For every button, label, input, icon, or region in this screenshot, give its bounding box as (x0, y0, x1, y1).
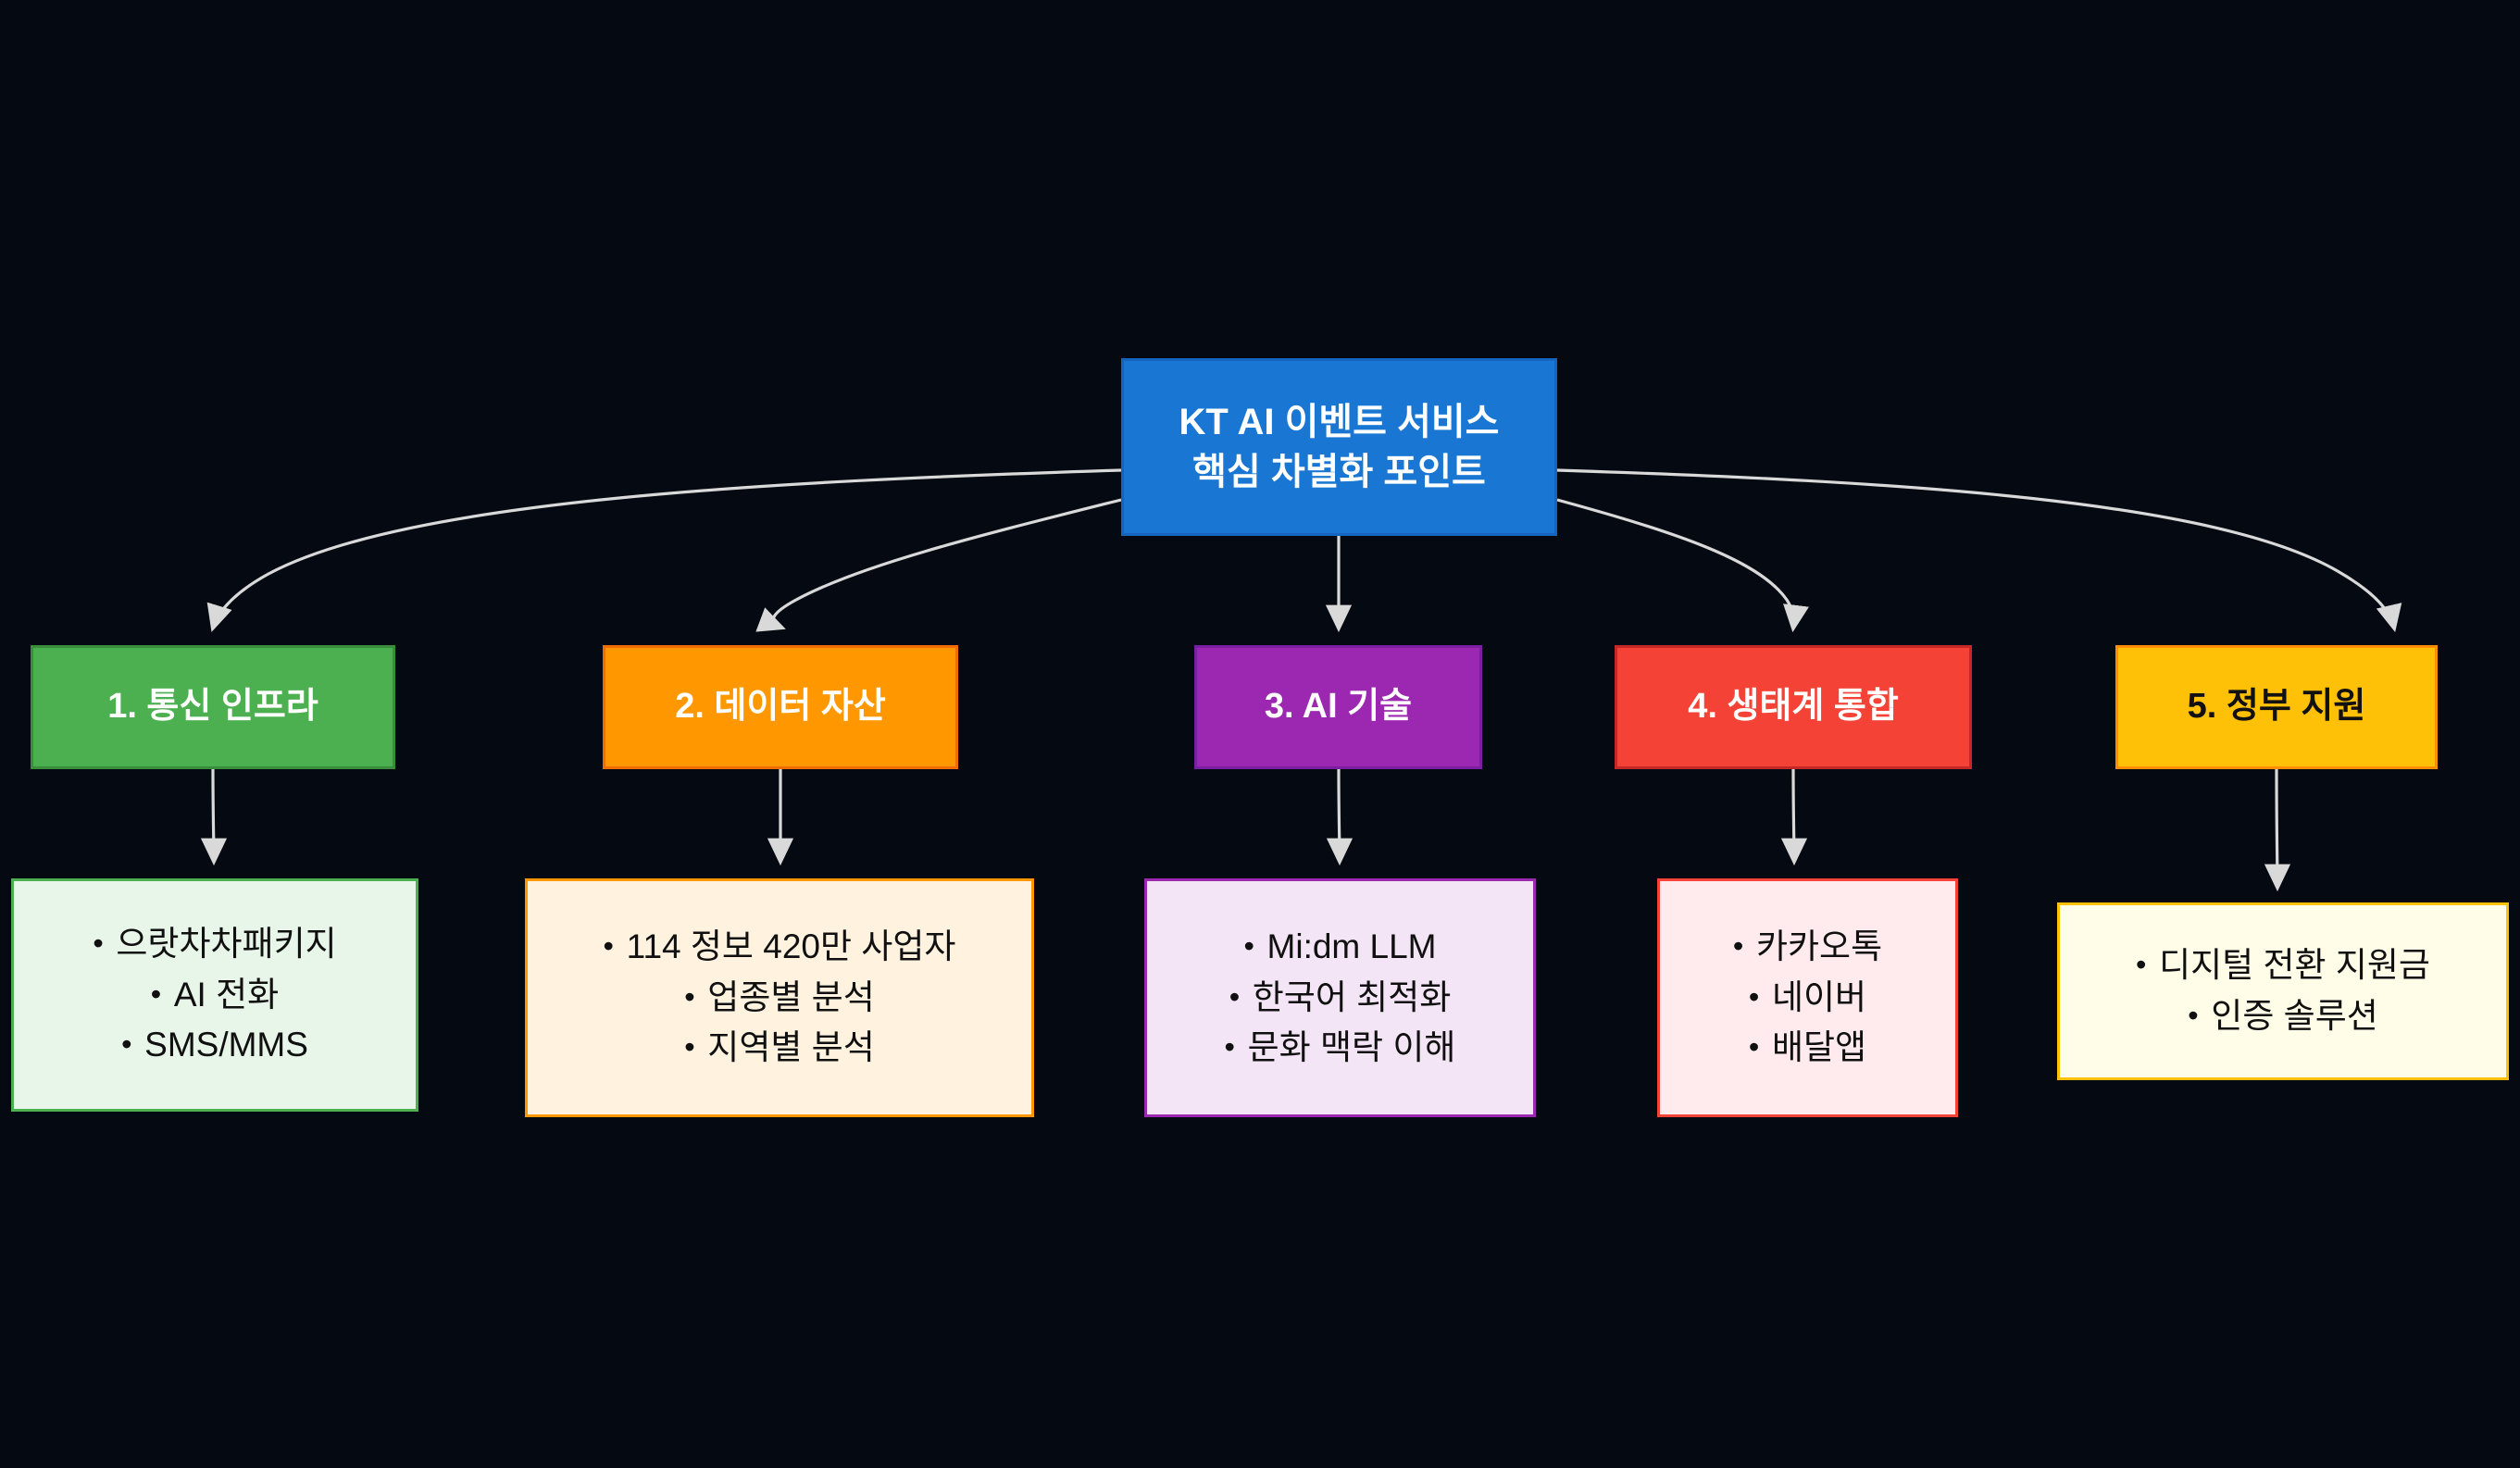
category-node-4[interactable]: 4. 생태계 통합 (1615, 645, 1972, 769)
edge-root-to-cat-5 (1557, 470, 2394, 628)
leaf-list-item: 카카오톡 (1733, 922, 1882, 973)
category-node-2[interactable]: 2. 데이터 자산 (603, 645, 958, 769)
leaf-list-item: 한국어 최적화 (1225, 973, 1456, 1024)
category-node-3[interactable]: 3. AI 기술 (1194, 645, 1482, 769)
leaf-node-1[interactable]: 으랏차차패키지AI 전화SMS/MMS (11, 878, 418, 1112)
leaf-node-2[interactable]: 114 정보 420만 사업자업종별 분석지역별 분석 (525, 878, 1034, 1117)
edge-root-to-cat-2 (773, 500, 1121, 628)
edge-root-to-cat-4 (1557, 500, 1793, 628)
category-node-4-label: 4. 생태계 통합 (1617, 683, 1969, 730)
category-node-1-label: 1. 통신 인프라 (33, 683, 393, 730)
edge-cat-3-to-leaf-3 (1339, 769, 1340, 861)
leaf-node-3-list: Mi:dm LLM한국어 최적화문화 맥락 이해 (1225, 922, 1456, 1074)
leaf-node-5[interactable]: 디지털 전환 지원금인증 솔루션 (2057, 902, 2509, 1080)
leaf-list-item: AI 전화 (93, 970, 336, 1021)
leaf-node-1-list: 으랏차차패키지AI 전화SMS/MMS (93, 919, 336, 1071)
root-node[interactable]: KT AI 이벤트 서비스 핵심 차별화 포인트 (1121, 358, 1557, 536)
leaf-node-5-list: 디지털 전환 지원금인증 솔루션 (2136, 940, 2430, 1042)
category-node-1[interactable]: 1. 통신 인프라 (31, 645, 395, 769)
leaf-list-item: Mi:dm LLM (1225, 922, 1456, 973)
leaf-list-item: 배달앱 (1733, 1023, 1882, 1074)
leaf-node-3[interactable]: Mi:dm LLM한국어 최적화문화 맥락 이해 (1144, 878, 1536, 1117)
leaf-list-item: 지역별 분석 (604, 1023, 956, 1074)
edge-cat-4-to-leaf-4 (1793, 769, 1794, 861)
leaf-list-item: 디지털 전환 지원금 (2136, 940, 2430, 991)
category-node-5[interactable]: 5. 정부 지원 (2115, 645, 2438, 769)
leaf-node-4[interactable]: 카카오톡네이버배달앱 (1657, 878, 1958, 1117)
leaf-list-item: 으랏차차패키지 (93, 919, 336, 970)
leaf-list-item: SMS/MMS (93, 1020, 336, 1071)
root-node-label: KT AI 이벤트 서비스 핵심 차별화 포인트 (1124, 397, 1554, 497)
leaf-list-item: 문화 맥락 이해 (1225, 1023, 1456, 1074)
category-node-3-label: 3. AI 기술 (1197, 683, 1479, 730)
category-node-2-label: 2. 데이터 자산 (605, 683, 955, 730)
leaf-list-item: 114 정보 420만 사업자 (604, 922, 956, 973)
leaf-node-4-list: 카카오톡네이버배달앱 (1733, 922, 1882, 1074)
edge-cat-5-to-leaf-5 (2277, 769, 2277, 887)
leaf-list-item: 네이버 (1733, 973, 1882, 1024)
category-node-5-label: 5. 정부 지원 (2118, 683, 2435, 730)
leaf-list-item: 업종별 분석 (604, 973, 956, 1024)
edge-cat-1-to-leaf-1 (213, 769, 214, 861)
diagram-canvas: KT AI 이벤트 서비스 핵심 차별화 포인트 1. 통신 인프라 2. 데이… (0, 0, 2520, 1468)
leaf-node-2-list: 114 정보 420만 사업자업종별 분석지역별 분석 (604, 922, 956, 1074)
edge-root-to-cat-1 (213, 470, 1121, 628)
leaf-list-item: 인증 솔루션 (2136, 991, 2430, 1042)
